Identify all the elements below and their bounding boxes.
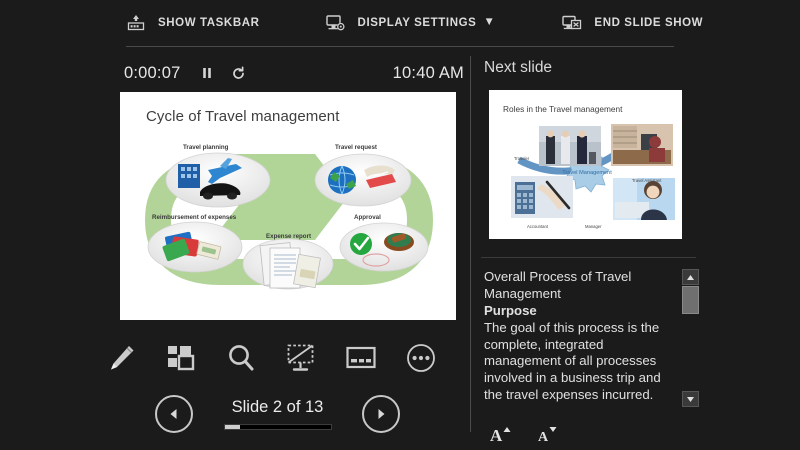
show-taskbar-button[interactable]: SHOW TASKBAR [123,0,260,46]
restart-timer-button[interactable] [229,64,247,82]
next-slide-button[interactable] [362,395,400,433]
more-options-button[interactable] [395,334,446,382]
end-slide-show-label: END SLIDE SHOW [594,17,703,29]
main-presenter-pane: 0:00:07 10:40 AM [0,47,470,450]
slide-progress-fill [225,425,241,429]
current-slide-title: Cycle of Travel management [146,108,340,125]
slide-counter: Slide 2 of 13 [232,398,324,417]
speaker-notes[interactable]: Overall Process of Travel Management Pur… [484,269,674,407]
slide-progress-bar[interactable] [224,424,332,430]
show-taskbar-label: SHOW TASKBAR [158,17,260,29]
svg-text:A: A [538,430,549,445]
toggle-captions-button[interactable] [335,334,386,382]
next-slide-label-manager: Manager [585,224,602,229]
presenter-view: SHOW TASKBAR DISPLAY SETTINGS ▼ [0,0,800,450]
svg-text:A: A [490,426,503,445]
pane-divider [470,56,471,432]
slide-label-reimbursement: Reimbursement of expenses [152,214,236,221]
next-slide-pane: Next slide [479,47,800,450]
notes-divider [481,257,696,258]
black-screen-button[interactable] [275,334,326,382]
decrease-text-size-button[interactable]: A [532,421,566,447]
scroll-down-icon[interactable] [682,391,699,407]
previous-slide-button[interactable] [155,395,193,433]
scroll-up-icon[interactable] [682,269,699,285]
next-slide-label-accountant: Accountant [527,224,548,229]
pen-tool-button[interactable] [95,334,146,382]
wall-clock: 10:40 AM [393,64,464,83]
show-taskbar-icon [123,12,149,34]
end-slide-show-button[interactable]: END SLIDE SHOW [559,0,703,46]
scrollbar-thumb[interactable] [682,286,699,314]
next-slide-thumbnail[interactable]: Roles in the Travel management Travel Ma… [489,90,682,239]
slide-label-expense-report: Expense report [266,233,311,240]
next-slide-title: Roles in the Travel management [503,104,622,114]
slide-show-toolbar [95,332,455,384]
notes-body-text: The goal of this process is the complete… [484,320,661,403]
elapsed-timer: 0:00:07 [124,64,180,83]
next-slide-heading: Next slide [484,59,552,77]
slide-counter-group: Slide 2 of 13 [210,398,345,430]
notes-heading: Overall Process of Travel Management [484,269,631,301]
next-slide-label-traveler: Traveler [514,156,529,161]
slide-label-approval: Approval [354,214,381,221]
see-all-slides-button[interactable] [155,334,206,382]
top-command-bar: SHOW TASKBAR DISPLAY SETTINGS ▼ [0,0,800,46]
next-slide-label-travel-assistant: Travel Assistant [632,178,661,183]
zoom-into-slide-button[interactable] [215,334,266,382]
next-slide-center-label: Travel Management [559,170,615,177]
timer-row: 0:00:07 10:40 AM [124,60,464,86]
current-slide[interactable]: Cycle of Travel management Travel planni… [120,92,456,320]
display-settings-label: DISPLAY SETTINGS [358,17,477,29]
notes-font-size-controls: A A [484,419,594,449]
slide-navigation: Slide 2 of 13 [155,385,400,443]
display-settings-button[interactable]: DISPLAY SETTINGS ▼ [323,0,496,46]
increase-text-size-button[interactable]: A [484,421,518,447]
slide-label-travel-request: Travel request [335,144,377,151]
display-settings-icon [323,12,349,34]
notes-subheading: Purpose [484,303,537,318]
pause-timer-button[interactable] [198,64,216,82]
slide-label-travel-planning: Travel planning [183,144,228,151]
chevron-down-icon: ▼ [483,16,495,28]
notes-scrollbar[interactable] [682,269,699,407]
end-slide-show-icon [559,12,585,34]
